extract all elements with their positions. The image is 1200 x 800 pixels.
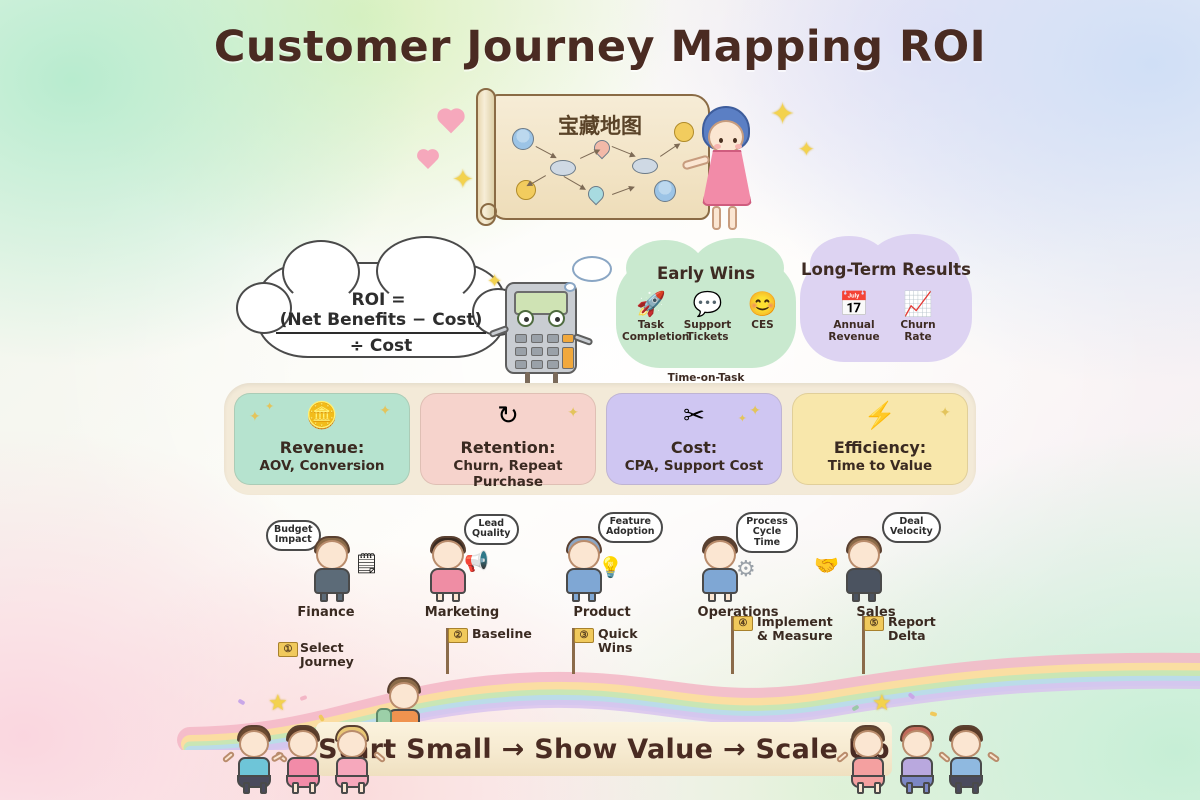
calculator-mascot	[505, 282, 577, 374]
map-node-pin	[585, 183, 608, 206]
pillar-subtitle: Time to Value	[793, 458, 967, 474]
step-number: ④	[733, 616, 753, 631]
long-term-results-panel: Long-Term Results 📅 Annual Revenue 📈 Chu…	[800, 254, 972, 362]
hero-girl-character	[696, 106, 758, 230]
persona-bubble: Feature Adoption	[598, 512, 663, 543]
pillar-name: Efficiency:	[793, 438, 967, 457]
thought-bubble-small	[564, 282, 576, 292]
persona-sales[interactable]: Deal Velocity 🤝 Sales	[816, 512, 936, 620]
cheering-kid	[281, 720, 327, 794]
cheering-kid	[895, 720, 941, 794]
page-title: Customer Journey Mapping ROI	[0, 22, 1200, 72]
step-number: ①	[278, 642, 298, 657]
early-wins-item-label: CES	[735, 320, 790, 332]
pillar-card-cost[interactable]: ✦ ✦ ✂ Cost: CPA, Support Cost	[606, 393, 782, 485]
persona-bubble: Lead Quality	[464, 514, 519, 545]
persona-operations[interactable]: Process Cycle Time ⚙ Operations	[678, 512, 798, 620]
step-label: Baseline	[472, 627, 532, 641]
hero-treasure-map: 宝藏地图	[468, 86, 758, 236]
heart-decoration	[419, 151, 437, 169]
cheering-kid	[846, 720, 892, 794]
map-node-coin	[674, 122, 694, 142]
cheering-kid	[944, 720, 990, 794]
pillars-tray: ✦ ✦ ✦ 🪙 Revenue: AOV, Conversion ✦ ↻ Ret…	[224, 383, 976, 495]
long-term-items: 📅 Annual Revenue 📈 Churn Rate	[800, 288, 972, 344]
banner-text: Start Small → Show Value → Scale Up	[318, 734, 890, 765]
persona-name: Finance	[266, 605, 386, 620]
map-arrow	[660, 144, 679, 157]
long-term-item-label: Annual Revenue	[825, 320, 883, 344]
handshake-icon: 🤝	[814, 553, 839, 578]
star-icon: ★	[268, 690, 288, 716]
heart-decoration	[440, 111, 463, 134]
early-wins-item-label: Task Completion	[622, 320, 680, 344]
infographic-canvas: Customer Journey Mapping ROI ✦ ✦ ✦ 宝藏地图	[0, 0, 1200, 800]
map-arrow	[536, 146, 556, 157]
persona-bubble: Deal Velocity	[882, 512, 941, 543]
early-wins-panel: Early Wins 🚀 Task Completion 💬 Support T…	[616, 258, 796, 368]
pillar-subtitle: AOV, Conversion	[235, 458, 409, 474]
pillar-card-efficiency[interactable]: ✦ ⚡ Efficiency: Time to Value	[792, 393, 968, 485]
gear-icon: ⚙	[736, 556, 756, 582]
early-wins-item-label: Support Tickets	[680, 320, 735, 344]
persona-name: Marketing	[402, 605, 522, 620]
roi-formula-text: ROI =(Net Benefits − Cost)÷ Cost	[258, 290, 504, 356]
personas-row: Budget Impact 🗒 Finance Lead Quality 📢 M…	[250, 512, 960, 620]
trend-chart-icon: 📈	[889, 288, 947, 320]
map-arrow	[580, 150, 599, 159]
map-node-stone	[550, 160, 576, 176]
smiley-icon: 😊	[735, 288, 790, 320]
early-wins-item: 😊 CES	[735, 288, 790, 344]
map-arrow	[564, 176, 585, 189]
pillar-name: Cost:	[607, 438, 781, 457]
pillar-card-retention[interactable]: ✦ ↻ Retention: Churn, Repeat Purchase	[420, 393, 596, 485]
long-term-item: 📈 Churn Rate	[889, 288, 947, 344]
scroll-parchment: 宝藏地图	[490, 94, 710, 220]
persona-name: Product	[542, 605, 662, 620]
step-label: Report Delta	[888, 615, 936, 643]
rocket-icon: 🚀	[622, 288, 680, 320]
scissors-icon: ✂	[607, 402, 781, 428]
pillar-subtitle: Churn, Repeat Purchase	[421, 458, 595, 490]
speech-bubbles-icon: 💬	[680, 288, 735, 320]
map-arrow	[612, 186, 633, 194]
long-term-item-label: Churn Rate	[889, 320, 947, 344]
roi-formula-cloud: ROI =(Net Benefits − Cost)÷ Cost	[256, 262, 506, 358]
cheering-kid	[330, 720, 376, 794]
pillar-name: Retention:	[421, 438, 595, 457]
lightbulb-icon: 💡	[598, 555, 623, 580]
long-term-item: 📅 Annual Revenue	[825, 288, 883, 344]
early-wins-items: 🚀 Task Completion 💬 Support Tickets 😊 CE…	[616, 288, 796, 344]
scroll-roll	[476, 88, 496, 226]
step-number: ③	[574, 628, 594, 643]
calendar-icon: 📅	[825, 288, 883, 320]
roi-formula-denominator: ÷ Cost	[276, 334, 487, 356]
persona-product[interactable]: Feature Adoption 💡 Product	[542, 512, 662, 620]
long-term-title: Long-Term Results	[800, 260, 972, 279]
pillar-subtitle: CPA, Support Cost	[607, 458, 781, 474]
map-node-person	[512, 128, 534, 150]
early-wins-title: Early Wins	[616, 264, 796, 283]
roi-formula-numerator: (Net Benefits − Cost)	[276, 310, 487, 334]
step-label: Quick Wins	[598, 627, 638, 655]
step-number: ②	[448, 628, 468, 643]
early-wins-item: 🚀 Task Completion	[622, 288, 680, 344]
step-number: ⑤	[864, 616, 884, 631]
roi-formula-prefix: ROI =	[351, 290, 410, 310]
thought-bubble	[572, 256, 612, 282]
sparkle-icon: ✦	[487, 272, 502, 290]
star-icon: ★	[872, 690, 892, 716]
closing-banner: Start Small → Show Value → Scale Up	[316, 722, 892, 776]
lightning-icon: ⚡	[793, 402, 967, 428]
early-wins-item: 💬 Support Tickets	[680, 288, 735, 344]
pillar-name: Revenue:	[235, 438, 409, 457]
map-arrow	[612, 146, 635, 156]
coin-icon: 🪙	[235, 402, 409, 428]
calculator-icon: 🗒	[354, 551, 379, 576]
refresh-icon: ↻	[421, 402, 595, 428]
pillar-card-revenue[interactable]: ✦ ✦ ✦ 🪙 Revenue: AOV, Conversion	[234, 393, 410, 485]
persona-finance[interactable]: Budget Impact 🗒 Finance	[266, 512, 386, 620]
map-node-stone	[632, 158, 658, 174]
map-node-person	[654, 180, 676, 202]
persona-bubble: Process Cycle Time	[736, 512, 798, 553]
sparkle-icon: ✦	[770, 100, 795, 130]
step-label: Select Journey	[300, 641, 354, 669]
early-wins-footnote: Time-on-Task	[616, 372, 796, 384]
step-label: Implement & Measure	[757, 615, 833, 643]
megaphone-icon: 📢	[464, 549, 489, 574]
sparkle-icon: ✦	[798, 140, 815, 160]
persona-marketing[interactable]: Lead Quality 📢 Marketing	[402, 512, 522, 620]
